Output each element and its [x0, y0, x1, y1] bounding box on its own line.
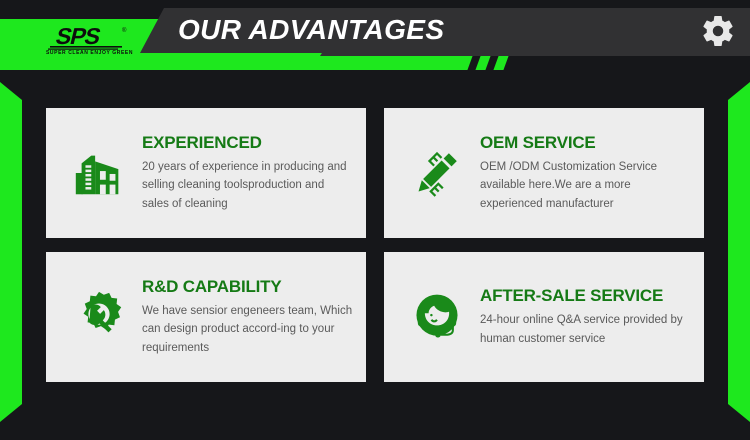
- building-icon: [62, 136, 136, 210]
- gear-icon[interactable]: [700, 13, 736, 49]
- card-title: AFTER-SALE SERVICE: [480, 286, 692, 306]
- logo-tagline: SUPER CLEAN ENJOY GREEN: [46, 50, 142, 56]
- card-title: OEM SERVICE: [480, 133, 692, 153]
- building-icon-glyph: [70, 144, 128, 202]
- svg-text:®: ®: [122, 27, 127, 34]
- card-body: OEM SERVICE OEM /ODM Customization Servi…: [474, 133, 692, 214]
- card-body: EXPERIENCED 20 years of experience in pr…: [136, 133, 354, 214]
- header-slash-large: [287, 56, 472, 70]
- page-header: SPS ® SUPER CLEAN ENJOY GREEN OUR ADVANT…: [0, 0, 750, 75]
- gear-wrench-icon: [62, 280, 136, 354]
- advantage-card-experienced[interactable]: EXPERIENCED 20 years of experience in pr…: [46, 108, 366, 238]
- advantage-card-rnd-capability[interactable]: R&D CAPABILITY We have sensior engeneers…: [46, 252, 366, 382]
- advantage-card-grid: EXPERIENCED 20 years of experience in pr…: [46, 108, 704, 382]
- pencil-icon-glyph: [409, 145, 465, 201]
- card-title: R&D CAPABILITY: [142, 277, 354, 297]
- card-description: OEM /ODM Customization Service available…: [480, 158, 692, 214]
- header-green-underline: [0, 56, 300, 70]
- card-description: 20 years of experience in producing and …: [142, 158, 354, 214]
- left-green-accent-bar: [0, 82, 22, 422]
- advantage-card-after-sale-service[interactable]: AFTER-SALE SERVICE 24-hour online Q&A se…: [384, 252, 704, 382]
- page-title: OUR ADVANTAGES: [178, 14, 444, 46]
- card-body: AFTER-SALE SERVICE 24-hour online Q&A se…: [474, 286, 692, 348]
- gear-icon-glyph: [700, 13, 736, 49]
- card-description: We have sensior engeneers team, Which ca…: [142, 302, 354, 358]
- card-body: R&D CAPABILITY We have sensior engeneers…: [136, 277, 354, 358]
- advantage-card-oem-service[interactable]: OEM SERVICE OEM /ODM Customization Servi…: [384, 108, 704, 238]
- headset-support-icon-glyph: [409, 289, 465, 345]
- pencil-icon: [400, 136, 474, 210]
- gear-wrench-icon-glyph: [70, 288, 128, 346]
- svg-text:SPS: SPS: [53, 23, 103, 49]
- card-description: 24-hour online Q&A service provided by h…: [480, 311, 692, 348]
- card-title: EXPERIENCED: [142, 133, 354, 153]
- right-green-accent-bar: [728, 82, 750, 422]
- brand-logo[interactable]: SPS ® SUPER CLEAN ENJOY GREEN: [34, 22, 144, 58]
- headset-support-icon: [400, 280, 474, 354]
